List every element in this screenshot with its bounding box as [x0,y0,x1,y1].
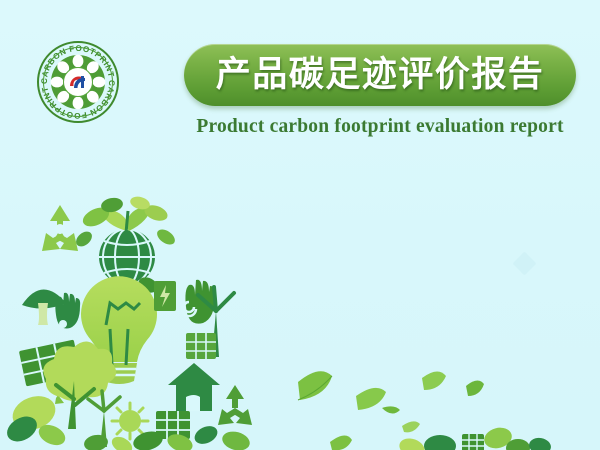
leaf-icon [298,371,484,450]
battery-icon [154,281,176,311]
recycle-right-icon [218,385,252,425]
house-icon [168,363,220,411]
carbon-footprint-logo: CARBON FOOTPRINT · CARBON FOOTPRINT · [37,41,119,123]
floating-leaves [290,330,600,450]
globe-icon [99,229,155,285]
logo-center-mark [63,67,93,97]
solar-panel-small-icon [186,333,216,359]
page-title: 产品碳足迹评价报告 [216,58,545,93]
slide-canvas: CARBON FOOTPRINT · CARBON FOOTPRINT · [0,0,600,450]
hand-icon [55,293,80,329]
title-banner: 产品碳足迹评价报告 [184,44,576,106]
recycle-icon [42,205,78,251]
eco-icon-fragments-bottom-right [397,425,553,450]
sl-monogram-icon [65,69,91,95]
page-subtitle: Product carbon footprint evaluation repo… [184,116,576,138]
hand-swirl-icon [182,280,215,324]
diamond-watermark-icon [512,251,536,275]
